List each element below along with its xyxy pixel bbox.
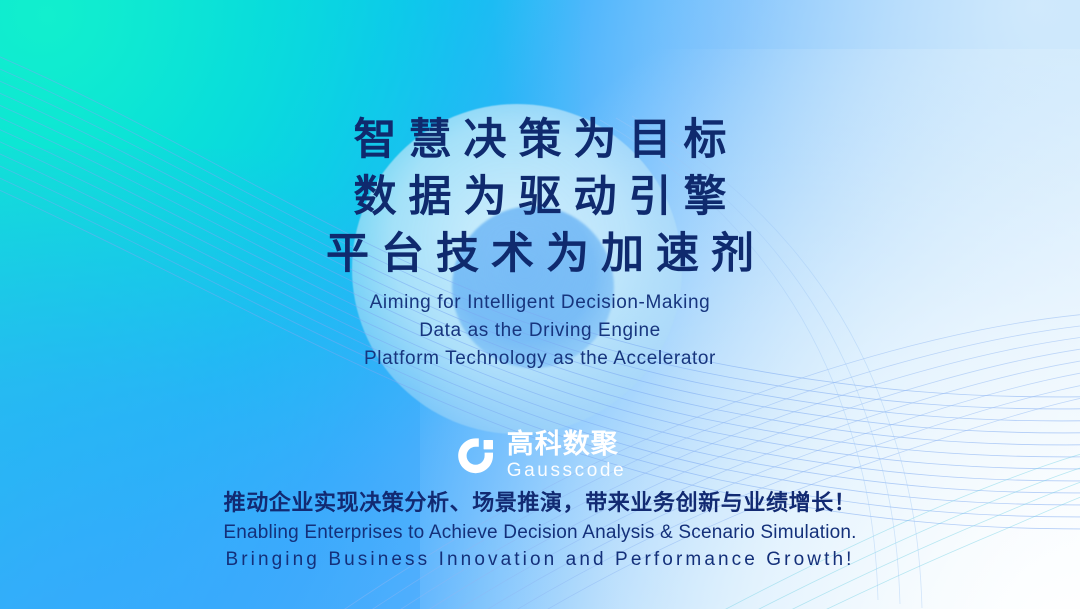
company-logo: 高科数聚 Gausscode — [0, 430, 1080, 484]
headline-line-2: 数据为驱动引擎 — [0, 169, 1080, 226]
tagline-english: Enabling Enterprises to Achieve Decision… — [0, 519, 1080, 573]
logo-name-cn: 高科数聚 — [507, 430, 627, 459]
tagline-english-line-1: Enabling Enterprises to Achieve Decision… — [0, 519, 1080, 546]
tagline-english-line-2: Bringing Business Innovation and Perform… — [0, 546, 1080, 573]
subheadline-line-1: Aiming for Intelligent Decision-Making — [0, 289, 1080, 317]
banner-canvas: 智慧决策为目标 数据为驱动引擎 平台技术为加速剂 Aiming for Inte… — [0, 0, 1080, 609]
gausscode-logo-mark-icon — [454, 435, 498, 479]
headline-line-1: 智慧决策为目标 — [0, 112, 1080, 169]
subheadline-line-3: Platform Technology as the Accelerator — [0, 345, 1080, 373]
subheadline-line-2: Data as the Driving Engine — [0, 317, 1080, 345]
logo-wordmark: 高科数聚 Gausscode — [507, 430, 627, 484]
banner-content: 智慧决策为目标 数据为驱动引擎 平台技术为加速剂 Aiming for Inte… — [0, 0, 1080, 609]
logo-name-en: Gausscode — [507, 460, 627, 482]
headline: 智慧决策为目标 数据为驱动引擎 平台技术为加速剂 — [0, 112, 1080, 283]
tagline-chinese: 推动企业实现决策分析、场景推演，带来业务创新与业绩增长！ — [0, 485, 1080, 517]
headline-line-3: 平台技术为加速剂 — [0, 226, 1080, 283]
subheadline: Aiming for Intelligent Decision-Making D… — [0, 289, 1080, 373]
